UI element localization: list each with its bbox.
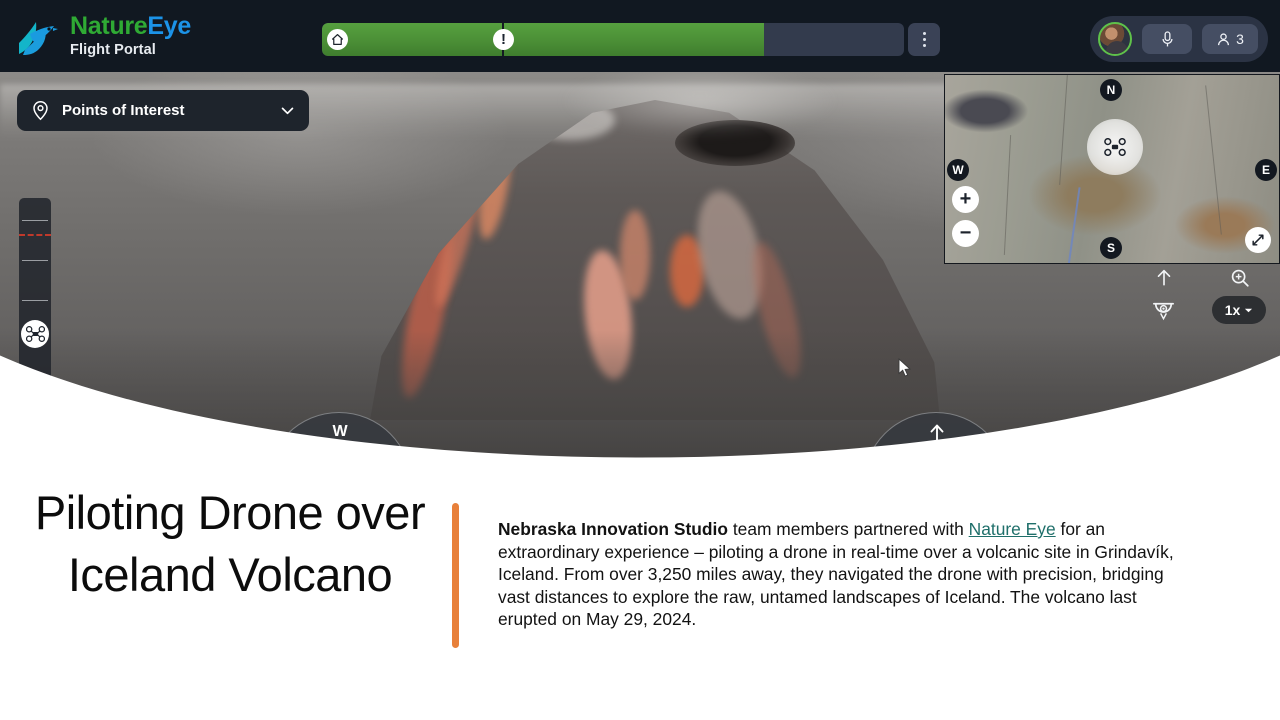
minimap-expand-button[interactable] <box>1245 227 1271 253</box>
chevron-down-icon[interactable] <box>279 102 296 119</box>
points-of-interest-label: Points of Interest <box>62 102 279 119</box>
people-icon <box>1216 32 1231 47</box>
map-track <box>1004 135 1011 255</box>
people-count-label: 3 <box>1236 31 1244 47</box>
brand-logo-group: NatureEye Flight Portal <box>0 14 320 58</box>
drone-top-icon <box>1104 138 1126 156</box>
progress-track[interactable] <box>322 23 904 56</box>
zoom-level-label: 1x <box>1225 302 1241 318</box>
more-vertical-icon[interactable] <box>908 23 940 56</box>
alert-exclamation-icon: ! <box>493 29 514 50</box>
flight-alert-marker[interactable]: ! <box>502 23 504 56</box>
slide-content: Piloting Drone over Iceland Volcano Nebr… <box>0 468 1280 720</box>
minimap-zoom-out-button[interactable]: − <box>952 220 979 247</box>
bird-logo <box>16 16 60 56</box>
compass-north: N <box>1100 79 1122 101</box>
nature-eye-link[interactable]: Nature Eye <box>969 519 1056 539</box>
home-icon[interactable] <box>327 29 348 50</box>
magnifier-plus-icon[interactable] <box>1228 266 1252 290</box>
expand-arrows-icon <box>1251 233 1265 247</box>
brand-text-group: NatureEye Flight Portal <box>70 14 191 58</box>
drone-field-of-view <box>1087 119 1143 175</box>
people-count-button[interactable]: 3 <box>1202 24 1258 54</box>
slider-tick <box>22 300 48 301</box>
app-header-bar: NatureEye Flight Portal ! 3 <box>0 0 1280 72</box>
page-title: Piloting Drone over Iceland Volcano <box>20 482 440 606</box>
header-right-cluster: 3 <box>1090 16 1268 62</box>
user-avatar[interactable] <box>1098 22 1132 56</box>
map-river <box>1067 187 1080 264</box>
minimap[interactable]: N S W E + − <box>944 74 1280 264</box>
caret-down-icon <box>1244 307 1253 314</box>
arrow-up-icon[interactable] <box>1152 266 1176 290</box>
brand-subtitle: Flight Portal <box>70 43 191 58</box>
dome-camera-icon[interactable] <box>1150 298 1176 324</box>
compass-west: W <box>947 159 969 181</box>
minimap-zoom-in-button[interactable]: + <box>952 186 979 213</box>
drone-flight-portal-app: NatureEye Flight Portal ! 3 <box>0 0 1280 480</box>
slider-tick <box>22 260 48 261</box>
brand-name: NatureEye <box>70 14 191 39</box>
body-text-before-link: team members partnered with <box>728 519 969 539</box>
progress-fill <box>322 23 764 56</box>
compass-south: S <box>1100 237 1122 259</box>
decorative-swoosh <box>0 330 1280 480</box>
camera-zoom-selector[interactable]: 1x <box>1212 296 1266 324</box>
slider-tick <box>22 220 48 221</box>
accent-bar <box>452 503 459 648</box>
microphone-icon[interactable] <box>1142 24 1192 54</box>
location-pin-icon <box>30 100 51 121</box>
brand-name-eye: Eye <box>147 12 191 40</box>
altitude-warning-line <box>19 234 51 236</box>
compass-east: E <box>1255 159 1277 181</box>
map-track <box>1205 85 1222 234</box>
body-paragraph: Nebraska Innovation Studio team members … <box>498 518 1178 631</box>
points-of-interest-dropdown[interactable]: Points of Interest <box>17 90 309 131</box>
flight-progress-bar[interactable]: ! <box>322 23 904 56</box>
body-lead-bold: Nebraska Innovation Studio <box>498 519 728 539</box>
map-track <box>1059 75 1068 185</box>
brand-name-nature: Nature <box>70 12 147 40</box>
